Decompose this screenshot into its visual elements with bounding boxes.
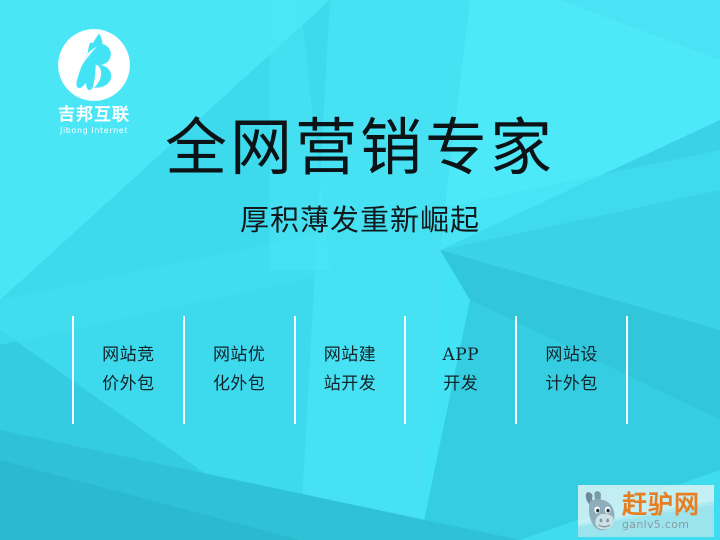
- service-item-website-build[interactable]: 网站建 站开发: [296, 316, 405, 424]
- watermark: 赶驴网 ganlv5.com: [578, 485, 714, 537]
- services-divider: [515, 316, 517, 424]
- service-label-line2: 计外包: [545, 374, 598, 395]
- services-divider: [404, 316, 406, 424]
- watermark-domain: ganlv5.com: [622, 518, 700, 531]
- jibong-b-brush-logo-icon: [55, 26, 133, 104]
- service-item-optimization[interactable]: 网站优 化外包: [185, 316, 294, 424]
- service-label-line2: 开发: [443, 374, 478, 395]
- services-row: 网站竞 价外包 网站优 化外包 网站建 站开发 APP 开发 网站设 计外包: [72, 316, 628, 424]
- service-label-line2: 化外包: [213, 374, 266, 395]
- service-item-design[interactable]: 网站设 计外包: [517, 316, 626, 424]
- service-label-line1: 网站优: [213, 345, 266, 366]
- service-label-line2: 站开发: [324, 374, 377, 395]
- service-label-line1: 网站竞: [102, 345, 155, 366]
- services-divider: [626, 316, 628, 424]
- services-divider: [183, 316, 185, 424]
- presentation-slide: 吉邦互联 Jibong Internet 全网营销专家 厚积薄发重新崛起 网站竞…: [0, 0, 720, 540]
- hero-subheadline: 厚积薄发重新崛起: [0, 201, 720, 239]
- services-divider: [72, 316, 74, 424]
- service-item-bidding[interactable]: 网站竞 价外包: [74, 316, 183, 424]
- watermark-brand: 赶驴网: [622, 492, 700, 518]
- service-label-line1: 网站设: [545, 345, 598, 366]
- service-label-line2: 价外包: [102, 374, 155, 395]
- service-item-app-dev[interactable]: APP 开发: [406, 316, 515, 424]
- service-label-line1: 网站建: [324, 345, 377, 366]
- donkey-head-icon: [582, 489, 620, 533]
- hero-headline: 全网营销专家: [0, 112, 720, 184]
- service-label-line1: APP: [442, 345, 479, 366]
- services-divider: [294, 316, 296, 424]
